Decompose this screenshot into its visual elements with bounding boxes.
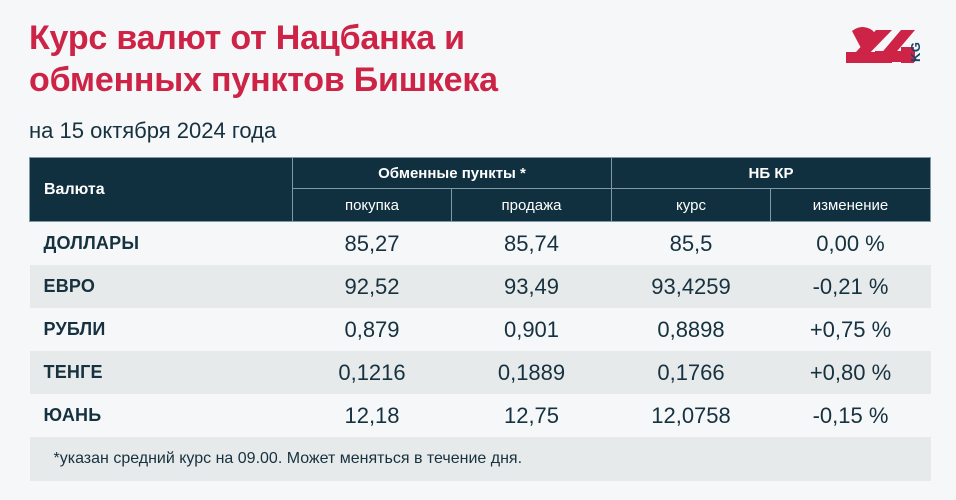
cell-sell: 0,901 bbox=[452, 308, 612, 351]
table-body: ДОЛЛАРЫ 85,27 85,74 85,5 0,00 % ЕВРО 92,… bbox=[30, 222, 931, 438]
column-header-change: изменение bbox=[771, 189, 931, 222]
cell-currency: ЕВРО bbox=[30, 265, 293, 308]
cell-rate: 85,5 bbox=[612, 222, 771, 266]
cell-change: +0,75 % bbox=[771, 308, 931, 351]
table-head-row-groups: Валюта Обменные пункты * НБ КР bbox=[30, 158, 931, 189]
cell-buy: 92,52 bbox=[293, 265, 452, 308]
page-title: Курс валют от Нацбанка и обменных пункто… bbox=[29, 18, 829, 102]
table-head: Валюта Обменные пункты * НБ КР покупка п… bbox=[30, 158, 931, 222]
cell-rate: 93,4259 bbox=[612, 265, 771, 308]
cell-sell: 85,74 bbox=[452, 222, 612, 266]
cell-currency: ЮАНЬ bbox=[30, 394, 293, 437]
table-footnote-row: *указан средний курс на 09.00. Может мен… bbox=[30, 437, 931, 481]
cell-change: 0,00 % bbox=[771, 222, 931, 266]
column-header-buy: покупка bbox=[293, 189, 452, 222]
table-foot: *указан средний курс на 09.00. Может мен… bbox=[30, 437, 931, 481]
column-group-exchange-points: Обменные пункты * bbox=[293, 158, 612, 189]
table-row: ТЕНГЕ 0,1216 0,1889 0,1766 +0,80 % bbox=[30, 351, 931, 394]
cell-buy: 12,18 bbox=[293, 394, 452, 437]
cell-buy: 0,1216 bbox=[293, 351, 452, 394]
cell-currency: РУБЛИ bbox=[30, 308, 293, 351]
header-area: Курс валют от Нацбанка и обменных пункто… bbox=[29, 18, 829, 144]
cell-change: -0,15 % bbox=[771, 394, 931, 437]
cell-rate: 0,1766 bbox=[612, 351, 771, 394]
cell-buy: 0,879 bbox=[293, 308, 452, 351]
column-group-nbkr: НБ КР bbox=[612, 158, 931, 189]
cell-rate: 0,8898 bbox=[612, 308, 771, 351]
table-footnote: *указан средний курс на 09.00. Может мен… bbox=[30, 437, 931, 481]
column-header-rate: курс bbox=[612, 189, 771, 222]
cell-currency: ТЕНГЕ bbox=[30, 351, 293, 394]
page-subtitle: на 15 октября 2024 года bbox=[29, 102, 829, 144]
cell-currency: ДОЛЛАРЫ bbox=[30, 222, 293, 266]
table-row: ДОЛЛАРЫ 85,27 85,74 85,5 0,00 % bbox=[30, 222, 931, 266]
cell-sell: 12,75 bbox=[452, 394, 612, 437]
table-row: ЕВРО 92,52 93,49 93,4259 -0,21 % bbox=[30, 265, 931, 308]
column-header-currency: Валюта bbox=[30, 158, 293, 222]
rates-table-container: Валюта Обменные пункты * НБ КР покупка п… bbox=[29, 157, 930, 481]
infographic-page: Курс валют от Нацбанка и обменных пункто… bbox=[0, 0, 956, 500]
table-row: ЮАНЬ 12,18 12,75 12,0758 -0,15 % bbox=[30, 394, 931, 437]
currency-rates-table: Валюта Обменные пункты * НБ КР покупка п… bbox=[29, 157, 931, 481]
cell-change: +0,80 % bbox=[771, 351, 931, 394]
cell-buy: 85,27 bbox=[293, 222, 452, 266]
cell-sell: 93,49 bbox=[452, 265, 612, 308]
svg-text:KG: KG bbox=[908, 42, 923, 63]
cell-sell: 0,1889 bbox=[452, 351, 612, 394]
table-row: РУБЛИ 0,879 0,901 0,8898 +0,75 % bbox=[30, 308, 931, 351]
brand-logo: KG bbox=[842, 18, 934, 74]
cell-rate: 12,0758 bbox=[612, 394, 771, 437]
logo-24kg-icon: KG bbox=[842, 18, 934, 74]
column-header-sell: продажа bbox=[452, 189, 612, 222]
cell-change: -0,21 % bbox=[771, 265, 931, 308]
